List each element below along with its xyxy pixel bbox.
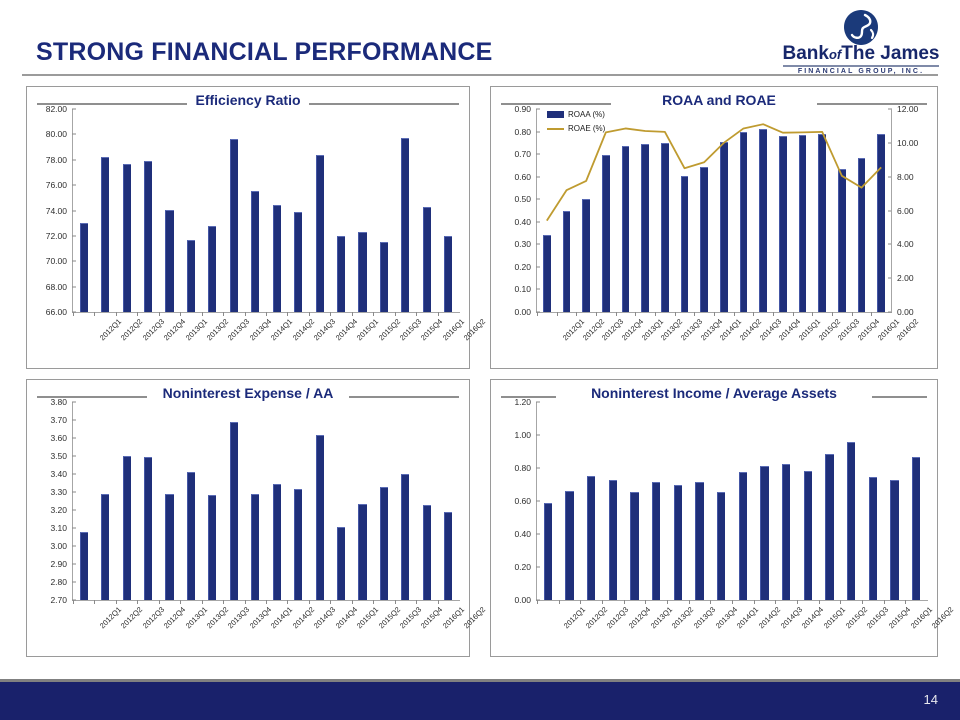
x-axis-tickmark: [734, 312, 735, 316]
y-axis-tick-label: 0.00: [514, 307, 531, 317]
bar: [337, 236, 345, 312]
x-axis-tickmark: [395, 312, 396, 316]
bar: [869, 477, 877, 600]
page-number: 14: [924, 692, 938, 707]
slide-root: STRONG FINANCIAL PERFORMANCE BankofThe J…: [0, 0, 960, 720]
y-axis-tickmark: [72, 402, 76, 403]
x-axis-tickmark: [602, 600, 603, 604]
bar: [444, 236, 452, 312]
x-axis-tick-label: 2014Q2: [291, 317, 316, 342]
title-rule-right: [872, 396, 927, 398]
y-axis-tick-label: 0.30: [514, 239, 531, 249]
x-axis-tick-label: 2014Q2: [291, 605, 316, 630]
bar: [80, 223, 88, 312]
y-axis-tick-label: 3.50: [50, 451, 67, 461]
bar: [609, 480, 617, 600]
x-axis-tickmark: [202, 600, 203, 604]
bar: [144, 161, 152, 312]
bar: [587, 476, 595, 600]
x-axis-tick-label: 2016Q2: [462, 317, 487, 342]
y-axis-tick-label: 3.20: [50, 505, 67, 515]
chart-legend: ROAA (%) ROAE (%): [547, 109, 605, 137]
y-axis-left: 3.803.703.603.503.403.303.203.103.002.90…: [31, 402, 71, 600]
x-axis-tickmark: [596, 312, 597, 316]
x-axis-tick-label: 2015Q3: [398, 317, 423, 342]
bar: [544, 503, 552, 600]
bar-series: [73, 402, 459, 600]
slide-header: STRONG FINANCIAL PERFORMANCE BankofThe J…: [0, 0, 960, 78]
title-rule-left: [501, 103, 611, 105]
x-axis-tickmark: [689, 600, 690, 604]
x-axis-tickmark: [223, 312, 224, 316]
page-title: STRONG FINANCIAL PERFORMANCE: [36, 38, 493, 67]
chart-title: Efficiency Ratio: [27, 92, 469, 108]
y-axis-tick-label: 0.20: [514, 562, 531, 572]
x-axis-tick-label: 2014Q4: [800, 605, 825, 630]
x-axis-tick-label: 2014Q1: [735, 605, 760, 630]
y-axis-tickmark: [72, 528, 76, 529]
x-axis-tickmark: [352, 600, 353, 604]
x-axis-tickmark: [797, 600, 798, 604]
x-axis-tickmark: [245, 600, 246, 604]
x-axis-tickmark: [624, 600, 625, 604]
y-axis-tick-label: 3.80: [50, 397, 67, 407]
x-axis-tick-label: 2015Q3: [398, 605, 423, 630]
x-axis-tickmark: [159, 600, 160, 604]
y-axis-tick-label: 66.00: [46, 307, 67, 317]
x-axis-tick-label: 2015Q1: [355, 317, 380, 342]
bar: [423, 207, 431, 312]
y-axis-right-line: [891, 109, 892, 312]
bar: [337, 527, 345, 600]
y-axis-tickmark: [536, 176, 540, 177]
x-axis-tick-label: 2015Q2: [376, 317, 401, 342]
bar: [230, 139, 238, 312]
y-axis-line: [72, 402, 73, 600]
bar: [208, 226, 216, 312]
plot-area: [537, 402, 927, 600]
x-axis-tick-label: 2016Q1: [441, 605, 466, 630]
bar: [101, 157, 109, 312]
x-axis-tick-label: 2012Q2: [119, 317, 144, 342]
x-axis-tickmark: [773, 312, 774, 316]
bar: [760, 466, 768, 600]
bar: [230, 422, 238, 600]
x-axis-tickmark: [812, 312, 813, 316]
x-axis-tick-label: 2012Q2: [583, 605, 608, 630]
y-axis-tickmark: [536, 289, 540, 290]
bar: [630, 492, 638, 600]
bar: [294, 489, 302, 600]
logo-wordmark: BankofThe James: [780, 44, 942, 63]
x-axis-tick-label: 2014Q3: [312, 605, 337, 630]
x-axis-tickmark: [352, 312, 353, 316]
bar: [912, 457, 920, 600]
y-axis-right-tick-label: 0.00: [897, 307, 914, 317]
bar: [80, 532, 88, 600]
x-axis-tickmark: [635, 312, 636, 316]
y-axis-tick-label: 0.90: [514, 104, 531, 114]
x-axis-tickmark: [137, 312, 138, 316]
x-axis-tick-label: 2012Q3: [140, 317, 165, 342]
y-axis-tick-label: 0.80: [514, 127, 531, 137]
bar: [123, 456, 131, 600]
x-axis-tickmark: [438, 600, 439, 604]
x-axis-tick-label: 2015Q2: [376, 605, 401, 630]
x-axis-tickmark: [245, 312, 246, 316]
plot-area: [73, 109, 459, 312]
x-axis-tickmark: [714, 312, 715, 316]
x-axis-tickmark: [73, 600, 74, 604]
y-axis-tick-label: 78.00: [46, 155, 67, 165]
globe-icon: [841, 8, 881, 48]
bar: [358, 504, 366, 600]
bar: [717, 492, 725, 600]
bar-series: [537, 402, 927, 600]
bar: [739, 472, 747, 600]
logo-subtitle: FINANCIAL GROUP, INC.: [780, 68, 942, 75]
x-axis-tickmark: [694, 312, 695, 316]
y-axis-tick-label: 80.00: [46, 129, 67, 139]
bar: [380, 242, 388, 312]
x-axis-tick-label: 2012Q1: [561, 317, 586, 342]
x-axis-tickmark: [580, 600, 581, 604]
x-axis-tick-label: 2015Q1: [355, 605, 380, 630]
bar: [401, 138, 409, 312]
x-axis-tickmark: [616, 312, 617, 316]
y-axis-tick-label: 0.60: [514, 496, 531, 506]
x-axis-tickmark: [287, 312, 288, 316]
x-axis-tickmark: [180, 600, 181, 604]
bar: [444, 512, 452, 600]
title-rule-right: [309, 103, 459, 105]
logo-divider: [783, 65, 939, 67]
y-axis-tick-label: 70.00: [46, 256, 67, 266]
y-axis-tickmark: [72, 510, 76, 511]
x-axis-tick-label: 2015Q1: [822, 605, 847, 630]
y-axis-tickmark: [72, 134, 76, 135]
plot-area: [537, 109, 891, 312]
x-axis-tickmark: [871, 312, 872, 316]
y-axis-tick-label: 3.60: [50, 433, 67, 443]
bar: [847, 442, 855, 600]
x-axis-tick-label: 2014Q4: [333, 317, 358, 342]
x-axis-tick-label: 2012Q3: [140, 605, 165, 630]
x-axis-tickmark: [710, 600, 711, 604]
y-axis-tick-label: 3.30: [50, 487, 67, 497]
x-axis-tickmark: [373, 600, 374, 604]
y-axis-tickmark: [536, 435, 540, 436]
legend-swatch-line-icon: [547, 128, 564, 130]
legend-swatch-bar-icon: [547, 111, 564, 118]
logo-name-of: of: [829, 47, 841, 62]
x-axis-tick-label: 2013Q1: [648, 605, 673, 630]
y-axis-tickmark: [72, 235, 76, 236]
x-axis-tickmark: [557, 312, 558, 316]
x-axis-tick-label: 2014Q2: [757, 605, 782, 630]
x-axis-tickmark: [287, 600, 288, 604]
bar: [890, 480, 898, 600]
bar: [165, 210, 173, 312]
bar: [804, 471, 812, 600]
y-axis-tick-label: 76.00: [46, 180, 67, 190]
y-axis-tick-label: 2.90: [50, 559, 67, 569]
y-axis-tickmark: [72, 546, 76, 547]
y-axis-tick-label: 3.40: [50, 469, 67, 479]
x-axis-tick-label: 2016Q2: [462, 605, 487, 630]
y-axis-left: 82.0080.0078.0076.0074.0072.0070.0068.00…: [31, 109, 71, 312]
x-axis-tickmark: [753, 312, 754, 316]
y-axis-tickmark: [72, 159, 76, 160]
x-axis-tick-label: 2012Q1: [98, 605, 123, 630]
x-axis-tick-label: 2015Q3: [865, 605, 890, 630]
y-axis-tick-label: 3.00: [50, 541, 67, 551]
x-axis-tick-label: 2013Q4: [713, 605, 738, 630]
x-axis-tick-label: 2015Q2: [843, 605, 868, 630]
y-axis-tickmark: [72, 109, 76, 110]
chart-efficiency-ratio: Efficiency Ratio 82.0080.0078.0076.0074.…: [26, 86, 470, 369]
x-axis-tickmark: [266, 600, 267, 604]
company-logo: BankofThe James FINANCIAL GROUP, INC.: [780, 8, 942, 70]
y-axis-tickmark: [536, 221, 540, 222]
bar: [187, 240, 195, 312]
y-axis-tick-label: 0.20: [514, 262, 531, 272]
logo-name-part1: Bank: [783, 43, 829, 64]
y-axis-right-tick-label: 6.00: [897, 206, 914, 216]
y-axis-tickmark: [72, 185, 76, 186]
x-axis-tick-label: 2013Q1: [183, 317, 208, 342]
x-axis-tick-label: 2014Q1: [269, 605, 294, 630]
bar: [273, 205, 281, 312]
chart-title: Noninterest Expense / AA: [27, 385, 469, 401]
bar: [165, 494, 173, 600]
x-axis-tick-label: 2012Q4: [162, 605, 187, 630]
x-axis-tick-label: 2013Q2: [205, 317, 230, 342]
x-axis-tick-label: 2015Q4: [419, 317, 444, 342]
x-axis-tick-label: 2013Q3: [226, 317, 251, 342]
y-axis-tickmark: [536, 199, 540, 200]
x-axis-tickmark: [793, 312, 794, 316]
bar: [251, 494, 259, 600]
y-axis-tick-label: 2.70: [50, 595, 67, 605]
line-path: [547, 124, 881, 220]
bar: [187, 472, 195, 600]
bar: [273, 484, 281, 600]
x-axis-tickmark: [775, 600, 776, 604]
x-axis-tickmark: [732, 600, 733, 604]
y-axis-tick-label: 0.70: [514, 149, 531, 159]
y-axis-tickmark: [536, 402, 540, 403]
x-axis-tick-label: 2012Q4: [627, 605, 652, 630]
x-axis-tickmark: [180, 312, 181, 316]
x-axis-tickmark: [330, 600, 331, 604]
x-axis-tickmark: [645, 600, 646, 604]
y-axis-tick-label: 72.00: [46, 231, 67, 241]
x-axis-tickmark: [862, 600, 863, 604]
y-axis-tickmark: [72, 286, 76, 287]
x-axis-tickmark: [438, 312, 439, 316]
x-axis-tickmark: [159, 312, 160, 316]
bar: [316, 435, 324, 600]
x-axis-tick-label: 2015Q4: [887, 605, 912, 630]
x-axis-tickmark: [330, 312, 331, 316]
bar-series: [73, 109, 459, 312]
bar: [123, 164, 131, 312]
chart-roaa-roae: ROAA and ROAE ROAA (%) ROAE (%) 0.900.80…: [490, 86, 938, 369]
slide-footer: [0, 682, 960, 720]
bar: [565, 491, 573, 600]
x-axis-tickmark: [416, 312, 417, 316]
bar: [423, 505, 431, 600]
chart-noninterest-expense: Noninterest Expense / AA 3.803.703.603.5…: [26, 379, 470, 657]
x-axis-tickmark: [223, 600, 224, 604]
bar: [316, 155, 324, 312]
bar: [294, 212, 302, 312]
y-axis-tick-label: 0.40: [514, 529, 531, 539]
x-axis-tick-label: 2015Q4: [419, 605, 444, 630]
bar: [825, 454, 833, 600]
y-axis-line: [536, 109, 537, 312]
x-axis-tick-label: 2013Q4: [248, 317, 273, 342]
y-axis-tick-label: 74.00: [46, 206, 67, 216]
y-axis-right-tick-label: 10.00: [897, 138, 918, 148]
y-axis-right: 12.0010.008.006.004.002.000.00: [891, 109, 931, 312]
title-rule-left: [501, 396, 556, 398]
y-axis-tick-label: 3.70: [50, 415, 67, 425]
y-axis-tick-label: 0.50: [514, 194, 531, 204]
x-axis-tick-label: 2014Q3: [778, 605, 803, 630]
chart-title: ROAA and ROAE: [511, 92, 927, 108]
x-axis-tickmark: [675, 312, 676, 316]
x-axis-tickmark: [94, 312, 95, 316]
bar: [358, 232, 366, 312]
x-axis-tickmark: [309, 600, 310, 604]
bar: [674, 485, 682, 600]
x-axis-tick-label: 2012Q1: [98, 317, 123, 342]
legend-label-roae: ROAE (%): [568, 124, 605, 133]
bar: [782, 464, 790, 600]
y-axis-tickmark: [72, 474, 76, 475]
legend-item-roae: ROAE (%): [547, 123, 605, 134]
y-axis-tick-label: 3.10: [50, 523, 67, 533]
x-axis-tickmark: [819, 600, 820, 604]
x-axis-tickmark: [655, 312, 656, 316]
bar: [101, 494, 109, 600]
y-axis-tickmark: [72, 261, 76, 262]
x-axis-tick-label: 2013Q1: [183, 605, 208, 630]
x-axis-tick-label: 2012Q2: [119, 605, 144, 630]
x-axis-tick-label: 2013Q4: [248, 605, 273, 630]
y-axis-tick-label: 68.00: [46, 282, 67, 292]
legend-label-roaa: ROAA (%): [568, 110, 605, 119]
x-axis-tickmark: [537, 312, 538, 316]
y-axis-tick-label: 0.10: [514, 284, 531, 294]
y-axis-tick-label: 0.80: [514, 463, 531, 473]
x-axis-tickmark: [832, 312, 833, 316]
x-axis-tick-label: 2012Q1: [562, 605, 587, 630]
y-axis-right-tick-label: 8.00: [897, 172, 914, 182]
x-axis-tickmark: [852, 312, 853, 316]
x-axis-tick-label: 2014Q3: [312, 317, 337, 342]
y-axis-right-tick-label: 12.00: [897, 104, 918, 114]
x-axis-tickmark: [266, 312, 267, 316]
x-axis-tickmark: [840, 600, 841, 604]
chart-noninterest-income: Noninterest Income / Average Assets 1.20…: [490, 379, 938, 657]
x-axis-tickmark: [559, 600, 560, 604]
y-axis-tickmark: [72, 456, 76, 457]
y-axis-tickmark: [72, 582, 76, 583]
plot-area: [73, 402, 459, 600]
x-axis-tickmark: [754, 600, 755, 604]
y-axis-tickmark: [72, 492, 76, 493]
x-axis-tick-label: 2016Q2: [930, 605, 955, 630]
x-axis-tick-label: 2012Q3: [605, 605, 630, 630]
y-axis-tickmark: [536, 109, 540, 110]
x-axis-tickmark: [309, 312, 310, 316]
title-rule-left: [37, 103, 187, 105]
y-axis-tick-label: 1.20: [514, 397, 531, 407]
y-axis-left: 1.201.000.800.600.400.200.00: [495, 402, 535, 600]
x-axis-tick-label: 2013Q2: [205, 605, 230, 630]
x-axis-tickmark: [373, 312, 374, 316]
y-axis-tickmark: [72, 210, 76, 211]
title-rule-left: [37, 396, 147, 398]
x-axis-tickmark: [884, 600, 885, 604]
bar: [652, 482, 660, 600]
y-axis-tick-label: 0.00: [514, 595, 531, 605]
x-axis-tickmark: [137, 600, 138, 604]
line-series: [537, 109, 891, 312]
x-axis-tickmark: [73, 312, 74, 316]
y-axis-tickmark: [536, 501, 540, 502]
y-axis-tickmark: [536, 266, 540, 267]
y-axis-tick-label: 82.00: [46, 104, 67, 114]
x-axis-tick-label: 2013Q3: [692, 605, 717, 630]
y-axis-tickmark: [536, 244, 540, 245]
y-axis-tick-label: 0.40: [514, 217, 531, 227]
bar: [208, 495, 216, 600]
logo-name-part2: The James: [841, 43, 939, 64]
title-rule-right: [349, 396, 459, 398]
y-axis-right-tick-label: 4.00: [897, 239, 914, 249]
y-axis-left: 0.900.800.700.600.500.400.300.200.100.00: [495, 109, 535, 312]
x-axis-tick-label: 2013Q2: [670, 605, 695, 630]
x-axis-tickmark: [94, 600, 95, 604]
bar: [251, 191, 259, 312]
bar: [144, 457, 152, 600]
bar: [695, 482, 703, 600]
y-axis-tickmark: [536, 131, 540, 132]
y-axis-tick-label: 2.80: [50, 577, 67, 587]
y-axis-tickmark: [536, 534, 540, 535]
y-axis-tickmark: [536, 468, 540, 469]
x-axis-tickmark: [395, 600, 396, 604]
y-axis-right-tick-label: 2.00: [897, 273, 914, 283]
x-axis-tick-label: 2016Q1: [908, 605, 933, 630]
y-axis-tickmark: [72, 438, 76, 439]
y-axis-tick-label: 0.60: [514, 172, 531, 182]
x-axis-tickmark: [537, 600, 538, 604]
x-axis-tickmark: [202, 312, 203, 316]
y-axis-tickmark: [72, 564, 76, 565]
title-rule-right: [817, 103, 927, 105]
y-axis-tickmark: [536, 567, 540, 568]
x-axis-tick-label: 2013Q3: [226, 605, 251, 630]
legend-item-roaa: ROAA (%): [547, 109, 605, 120]
bar: [380, 487, 388, 600]
x-axis-tickmark: [116, 312, 117, 316]
x-axis-tickmark: [416, 600, 417, 604]
